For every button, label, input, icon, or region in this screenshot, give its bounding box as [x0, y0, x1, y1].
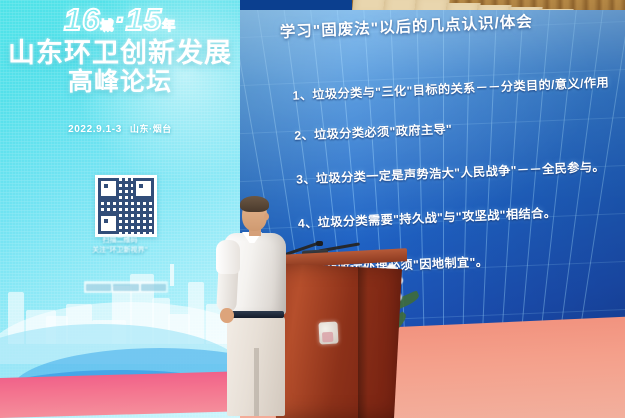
banner-line-2: 山东环卫创新发展 [0, 39, 240, 67]
presenter-ear [264, 213, 269, 220]
presenter-belt [226, 311, 284, 318]
banner-location: 山东·烟台 [130, 124, 172, 134]
qr-caption-line-1: 扫描二维码 [0, 236, 240, 246]
banner-headline: 16城·15年 山东环卫创新发展 高峰论坛 [0, 4, 240, 96]
banner-unit-cheng: 城 [100, 18, 114, 33]
banner-num-16: 16 [64, 2, 100, 37]
sponsor-logo [86, 284, 111, 291]
presenter-hand [220, 308, 234, 323]
qr-eye-tl [98, 178, 119, 199]
qr-grid [98, 178, 154, 234]
sponsor-logo-strip [84, 281, 168, 293]
presenter [214, 198, 324, 418]
banner-unit-nian: 年 [162, 18, 176, 33]
banner-dot: · [114, 2, 125, 37]
qr-eye-bl [98, 213, 119, 234]
banner-headline-top: 16城·15年 [0, 4, 240, 35]
sponsor-logo [141, 284, 166, 291]
banner-pink-base [0, 371, 240, 418]
banner-date: 2022.9.1-3 [68, 124, 122, 135]
skyline-tower [170, 264, 174, 286]
slide-point-1: 1、垃圾分类与"三化"目标的关系－－分类目的/意义/作用 [292, 72, 609, 103]
slide-point-2: 2、垃圾分类必须"政府主导" [294, 119, 453, 144]
slide-point-3: 3、垃圾分类一定是声势浩大"人民战争"－－全民参与。 [296, 157, 606, 188]
qr-caption: 扫描二维码 关注"环卫新视界" [0, 236, 240, 256]
podium-cable [335, 400, 395, 418]
presenter-sleeve [216, 240, 240, 274]
banner-num-15: 15 [126, 2, 162, 37]
presenter-leg-split [254, 348, 259, 416]
slide-point-4: 4、垃圾分类需要"持久战"与"攻坚战"相结合。 [298, 203, 557, 232]
sponsor-logo [113, 284, 138, 291]
event-banner: 16城·15年 山东环卫创新发展 高峰论坛 2022.9.1-3山东·烟台 扫描… [0, 0, 240, 418]
qr-caption-line-2: 关注"环卫新视界" [0, 246, 240, 256]
presenter-hair [240, 196, 269, 212]
banner-date-line: 2022.9.1-3山东·烟台 [0, 122, 240, 135]
qr-code [95, 175, 157, 237]
banner-line-3: 高峰论坛 [0, 69, 240, 95]
qr-eye-tr [133, 178, 154, 199]
slide-title: 学习"固废法"以后的几点认识/体会 [279, 10, 610, 42]
conference-photo: 学习"固废法"以后的几点认识/体会 1、垃圾分类与"三化"目标的关系－－分类目的… [0, 0, 625, 418]
podium-edge-shadow [358, 266, 368, 418]
